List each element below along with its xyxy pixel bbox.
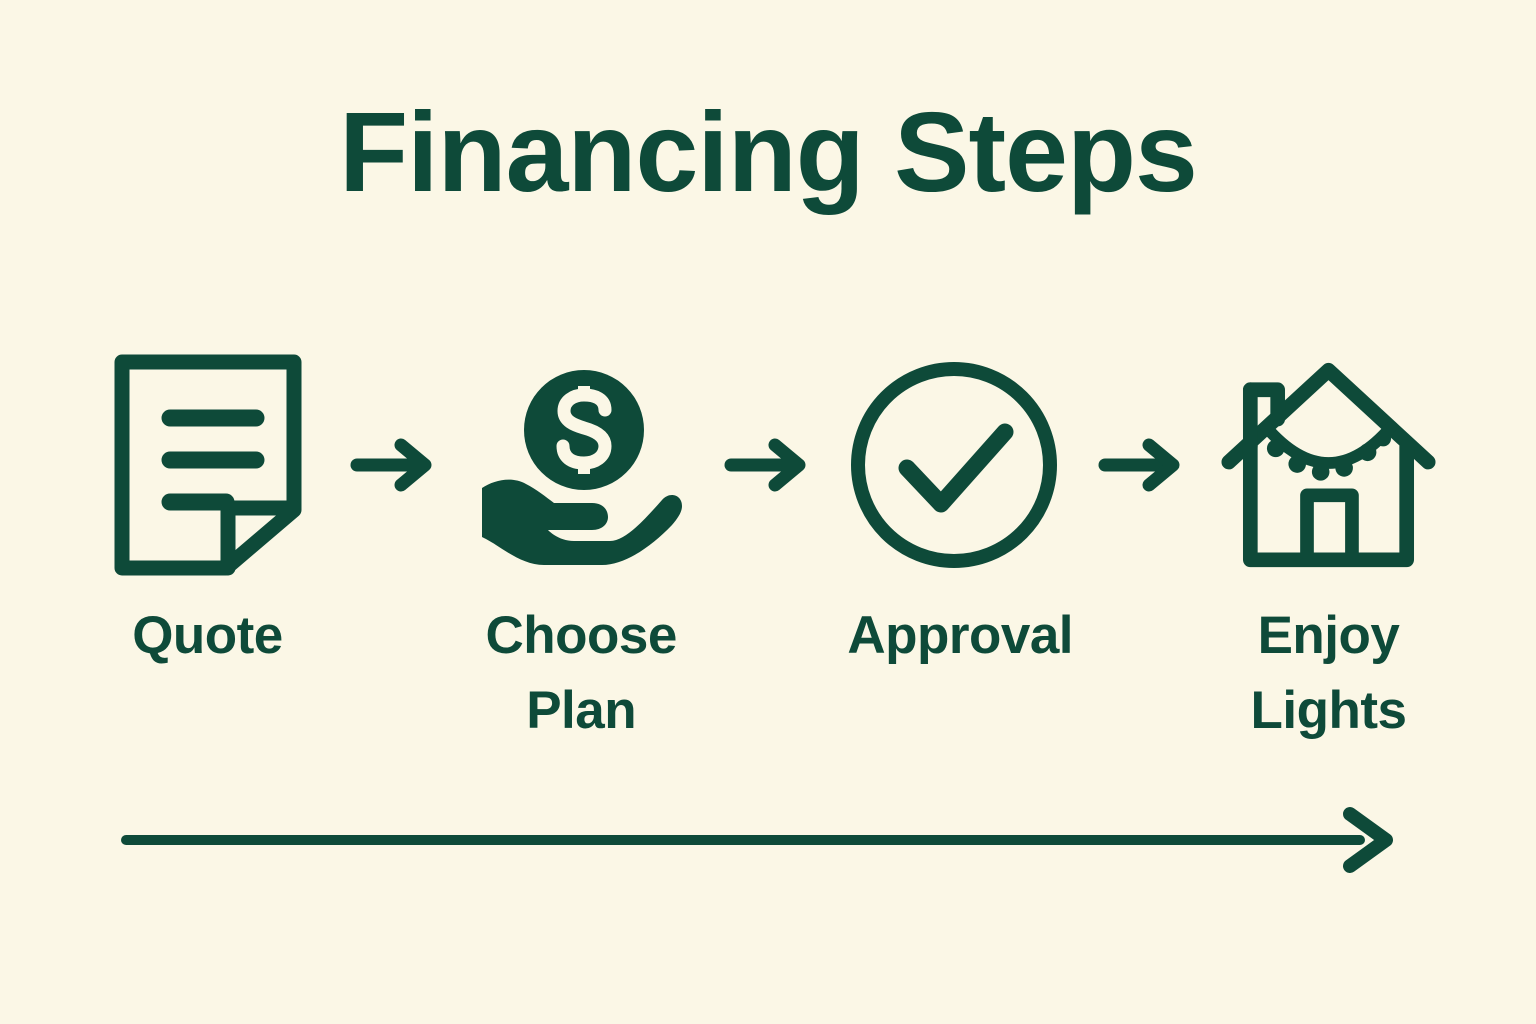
step-label-enjoy-lights-line1: Enjoy [1221, 598, 1436, 673]
connector-arrow-3 [1092, 425, 1192, 505]
hand-holding-dollar-icon [474, 358, 689, 573]
steps-label-row: Quote Choose Plan Approval Enjoy Lights [100, 598, 1436, 749]
arrow-right-icon [723, 435, 813, 495]
arrow-right-icon [349, 435, 439, 495]
step-label-enjoy-lights: Enjoy Lights [1221, 598, 1436, 749]
check-circle-icon [847, 358, 1062, 573]
document-icon [108, 350, 308, 580]
step-label-enjoy-lights-line2: Lights [1221, 673, 1436, 748]
step-icon-enjoy-lights [1221, 340, 1436, 590]
timeline-arrow-icon [110, 800, 1410, 880]
step-label-approval: Approval [847, 598, 1062, 673]
page-title: Financing Steps [0, 96, 1536, 209]
step-label-quote: Quote [100, 598, 315, 673]
step-icon-quote [100, 340, 315, 590]
step-label-choose-plan: Choose Plan [474, 598, 689, 749]
steps-icon-row [100, 330, 1436, 600]
house-with-string-lights-icon [1221, 350, 1436, 580]
connector-arrow-1 [344, 425, 444, 505]
arrow-right-icon [1097, 435, 1187, 495]
step-icon-choose-plan [474, 340, 689, 590]
progress-timeline [110, 800, 1410, 880]
step-icon-approval [847, 340, 1062, 590]
infographic-canvas: Financing Steps [0, 0, 1536, 1024]
connector-arrow-2 [718, 425, 818, 505]
